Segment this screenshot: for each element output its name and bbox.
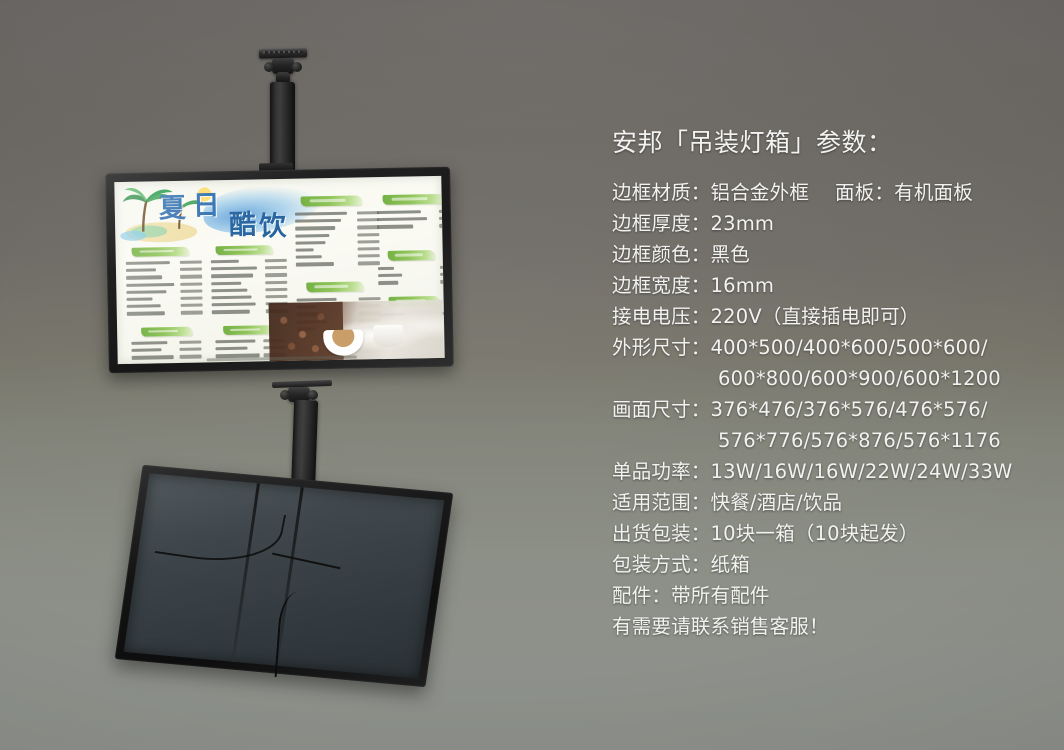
spec-key: 边框材质： [612,181,711,204]
spec-row-color: 边框颜色：黑色 [612,239,1042,270]
menu-category-header [132,247,190,257]
menu-item-rows [131,341,202,365]
lightbox-upper: 夏 日 酷 饮 [105,167,454,374]
pivot-knob-left [264,62,274,72]
hero-char-4: 饮 [259,213,287,241]
spec-value: 13W/16W/16W/22W/24W/33W [711,460,1013,483]
menu-category-header [301,195,363,206]
spec-key: 外形尺寸： [612,336,711,359]
spec-value-panel: 有机面板 [894,181,973,204]
power-cable [155,498,286,571]
spec-key: 配件： [612,584,671,607]
power-cable-drop [275,591,325,678]
spec-key: 单品功率： [612,460,711,483]
spec-row-power: 单品功率：13W/16W/16W/22W/24W/33W [612,456,1042,487]
power-cable-segment [272,553,341,570]
lightbox-rear-panel [124,473,444,678]
pivot-knob-right [292,62,302,72]
spec-title: 安邦「吊装灯箱」参数： [612,126,1042,160]
product-spec-image: 夏 日 酷 饮 [0,0,1064,750]
spec-row-application: 适用范围：快餐/酒店/饮品 [612,487,1042,518]
hero-char-1: 夏 [159,195,187,223]
menu-artwork: 夏 日 酷 饮 [114,176,444,364]
spec-row-width: 边框宽度：16mm [612,270,1042,301]
spec-list: 安邦「吊装灯箱」参数： 边框材质：铝合金外框面板：有机面板 边框厚度：23mm … [612,126,1042,642]
coffee-cup-secondary-icon [373,325,403,348]
menu-category-header [383,194,445,205]
spec-key: 适用范围： [612,491,711,514]
spec-value: 23mm [711,212,775,235]
spec-value: 黑色 [711,243,750,266]
spec-value: 10块一箱（10块起发） [711,522,919,545]
hero-char-3: 酷 [229,211,257,239]
spec-row-voltage: 接电电压：220V（直接插电即可） [612,301,1042,332]
spec-key: 边框厚度： [612,212,711,235]
spec-value: 快餐/酒店/饮品 [711,491,843,514]
menu-category-header [216,245,274,255]
product-photo: 夏 日 酷 饮 [0,0,600,750]
spec-key: 包装方式： [612,553,711,576]
spec-value: 铝合金外框 [711,181,810,204]
menu-item-rows [377,210,445,233]
spec-value: 16mm [711,274,775,297]
spec-row-packing-method: 包装方式：纸箱 [612,549,1042,580]
spec-value-cont: 600*800/600*900/600*1200 [718,367,1001,390]
menu-category-header [306,281,364,292]
spec-value: 纸箱 [711,553,750,576]
lightbox-panel-upper: 夏 日 酷 饮 [114,176,444,364]
spec-value-cont: 576*776/576*876/576*1176 [718,429,1001,452]
spec-row-thickness: 边框厚度：23mm [612,208,1042,239]
spec-row-graphic-size: 画面尺寸：376*476/376*576/476*576/ [612,394,1042,425]
spec-key: 出货包装： [612,522,711,545]
spec-row-shipping-pack: 出货包装：10块一箱（10块起发） [612,518,1042,549]
menu-item-rows [378,265,445,288]
spec-row-contact-note: 有需要请联系销售客服！ [612,611,1042,642]
spec-row-outer-size-cont: 600*800/600*900/600*1200 [612,363,1042,394]
spec-key: 边框颜色： [612,243,711,266]
spec-row-material: 边框材质：铝合金外框面板：有机面板 [612,177,1042,208]
pivot-knob-left-lower [280,390,290,400]
menu-item-rows [295,211,380,270]
spec-key: 画面尺寸： [612,398,711,421]
spec-key: 边框宽度： [612,274,711,297]
spec-value: 带所有配件 [671,584,770,607]
menu-category-header [141,327,193,337]
menu-item-rows [126,260,203,319]
spec-row-accessories: 配件：带所有配件 [612,580,1042,611]
hero-char-2: 日 [192,192,220,220]
spec-key-panel: 面板： [835,181,894,204]
spec-row-outer-size: 外形尺寸：400*500/400*600/500*600/ [612,332,1042,363]
spec-value: 400*500/400*600/500*600/ [711,336,988,359]
spec-value: 220V（直接插电即可） [711,305,920,328]
drop-pole-upper [270,82,295,174]
spec-key: 接电电压： [612,305,711,328]
lightbox-lower [115,465,454,688]
menu-category-header [388,250,436,261]
pivot-knob-right-lower [308,390,318,400]
contact-note: 有需要请联系销售客服！ [612,615,829,638]
spec-row-graphic-size-cont: 576*776/576*876/576*1176 [612,425,1042,456]
menu-category-header [223,325,275,335]
spec-value: 376*476/376*576/476*576/ [711,398,988,421]
